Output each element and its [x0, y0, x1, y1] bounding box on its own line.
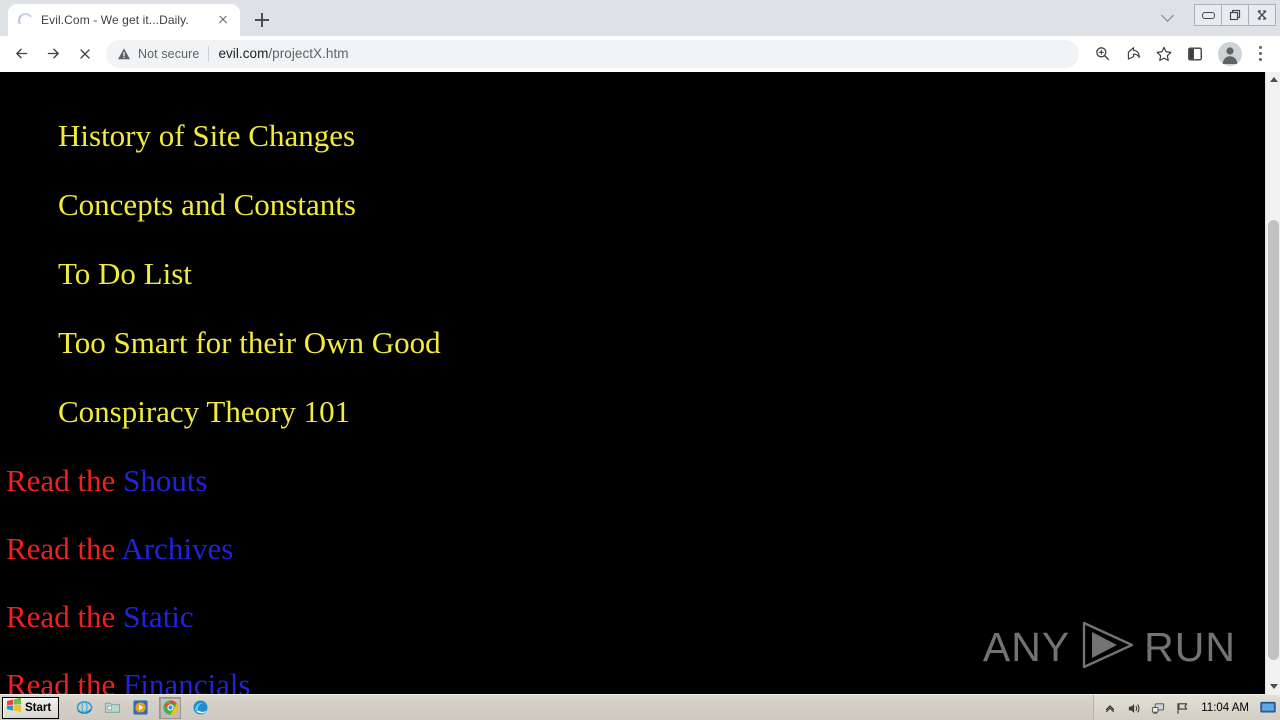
avatar-icon[interactable]	[1218, 42, 1242, 66]
read-line-archives: Read the Archives	[0, 515, 1266, 583]
screen: Evil.Com - We get it...Daily.	[0, 0, 1280, 720]
three-dot-menu-icon[interactable]	[1248, 39, 1272, 69]
scrollbar-thumb[interactable]	[1268, 220, 1279, 660]
window-controls	[1155, 0, 1276, 30]
media-player-icon[interactable]	[131, 699, 149, 717]
browser-toolbar: Not secure evil.com/projectX.htm	[0, 36, 1280, 72]
list-item: Too Smart for their Own Good	[58, 309, 1266, 377]
system-tray: 11:04 AM	[1093, 695, 1280, 720]
close-window-button[interactable]	[1248, 4, 1276, 26]
folder-icon[interactable]	[103, 699, 121, 717]
yellow-link-list: History of Site Changes Concepts and Con…	[0, 102, 1266, 446]
windows-flag-icon	[6, 697, 22, 718]
back-arrow-icon[interactable]	[6, 39, 36, 69]
link-financials[interactable]: Financials	[123, 667, 250, 694]
star-icon[interactable]	[1149, 39, 1179, 69]
scroll-up-arrow-icon[interactable]	[1266, 72, 1280, 87]
warning-triangle-icon	[117, 47, 131, 61]
list-item: History of Site Changes	[58, 102, 1266, 170]
list-item: Conspiracy Theory 101	[58, 378, 1266, 446]
network-icon[interactable]	[1150, 700, 1166, 716]
chevron-down-icon[interactable]	[1155, 2, 1181, 28]
read-prefix: Read the	[6, 667, 123, 694]
internet-explorer-icon[interactable]	[75, 699, 93, 717]
page-viewport: Answers and Lies History of Site Changes…	[0, 72, 1280, 694]
url-path: /projectX.htm	[268, 46, 348, 61]
microsoft-edge-icon[interactable]	[191, 699, 209, 717]
minimize-button[interactable]	[1194, 4, 1222, 26]
address-bar[interactable]: Not secure evil.com/projectX.htm	[106, 40, 1079, 68]
link-history-of-site-changes[interactable]: History of Site Changes	[58, 102, 355, 170]
read-line-shouts: Read the Shouts	[0, 447, 1266, 515]
speaker-icon[interactable]	[1126, 700, 1142, 716]
zoom-in-icon[interactable]	[1087, 39, 1117, 69]
tab-title: Evil.Com - We get it...Daily.	[41, 13, 206, 27]
loading-spinner-icon	[17, 11, 35, 29]
scroll-down-arrow-icon[interactable]	[1266, 679, 1280, 694]
link-static[interactable]: Static	[123, 599, 194, 634]
read-line-static: Read the Static	[0, 583, 1266, 651]
link-too-smart-for-their-own-good[interactable]: Too Smart for their Own Good	[58, 309, 441, 377]
read-prefix: Read the	[6, 599, 123, 634]
omnibox-divider	[208, 46, 209, 62]
url-host: evil.com	[218, 46, 268, 61]
quick-launch-bar	[75, 697, 209, 719]
tab-strip: Evil.Com - We get it...Daily.	[0, 0, 1280, 36]
google-chrome-icon[interactable]	[159, 697, 181, 719]
read-prefix: Read the	[6, 463, 123, 498]
page-scrollbar[interactable]	[1265, 72, 1280, 694]
link-concepts-and-constants[interactable]: Concepts and Constants	[58, 171, 356, 239]
start-button[interactable]: Start	[2, 697, 59, 719]
new-tab-button[interactable]	[248, 6, 276, 34]
read-prefix: Read the	[6, 531, 121, 566]
security-status-label: Not secure	[138, 47, 199, 61]
link-shouts[interactable]: Shouts	[123, 463, 207, 498]
stop-x-icon[interactable]	[70, 39, 100, 69]
share-icon[interactable]	[1118, 39, 1148, 69]
link-to-do-list[interactable]: To Do List	[58, 240, 192, 308]
list-item: To Do List	[58, 240, 1266, 308]
browser-window: Evil.Com - We get it...Daily.	[0, 0, 1280, 694]
start-label: Start	[25, 702, 51, 714]
tab-evil-com[interactable]: Evil.Com - We get it...Daily.	[8, 4, 240, 36]
maximize-button[interactable]	[1221, 4, 1249, 26]
link-archives[interactable]: Archives	[121, 531, 233, 566]
read-line-financials: Read the Financials	[0, 651, 1266, 694]
side-panel-icon[interactable]	[1180, 39, 1210, 69]
clock[interactable]: 11:04 AM	[1201, 702, 1249, 714]
toolbar-actions	[1087, 39, 1272, 69]
url-text: evil.com/projectX.htm	[218, 46, 348, 61]
chevron-up-icon[interactable]	[1102, 700, 1118, 716]
flag-icon[interactable]	[1174, 700, 1190, 716]
list-item: Concepts and Constants	[58, 171, 1266, 239]
monitor-icon[interactable]	[1260, 700, 1276, 716]
forward-arrow-icon[interactable]	[38, 39, 68, 69]
windows-taskbar: Start	[0, 694, 1280, 720]
web-page-content: Answers and Lies History of Site Changes…	[0, 72, 1266, 694]
close-icon[interactable]	[214, 11, 232, 29]
page-title: Answers and Lies	[0, 72, 1266, 80]
link-conspiracy-theory-101[interactable]: Conspiracy Theory 101	[58, 378, 350, 446]
